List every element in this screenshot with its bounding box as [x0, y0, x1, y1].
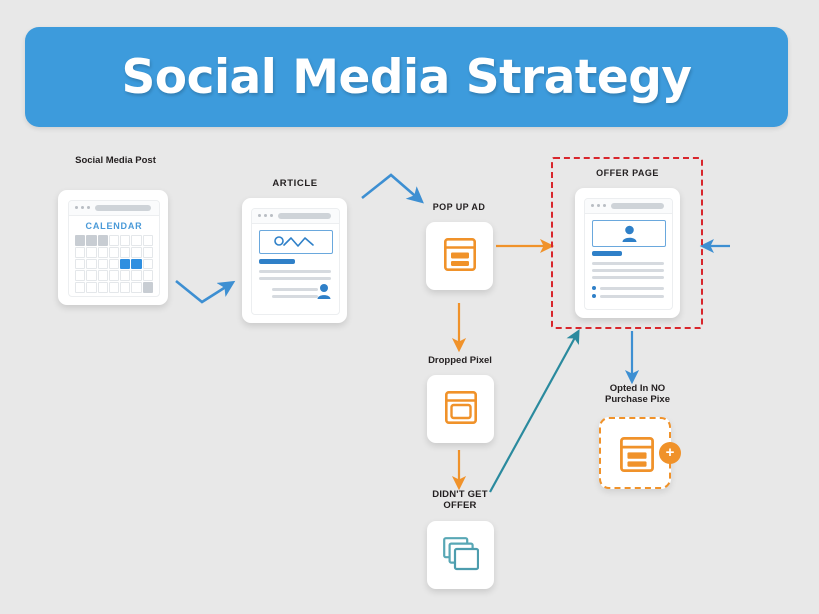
- author-avatar-icon: [316, 283, 332, 300]
- article-card[interactable]: [242, 198, 347, 323]
- calendar-cell: [143, 259, 153, 270]
- browser-dot: [81, 206, 84, 209]
- browser-address-bar: [278, 213, 331, 219]
- calendar-cell: [98, 247, 108, 258]
- edge-post-to-article: [176, 281, 232, 302]
- node-pop-up-ad[interactable]: POP UP AD: [424, 202, 494, 302]
- popup-window-icon: [620, 437, 654, 472]
- calendar-cell: [143, 282, 153, 293]
- calendar-cell: [86, 270, 96, 281]
- calendar-cell: [131, 282, 141, 293]
- popup-window-icon: [444, 238, 476, 271]
- calendar-cell: [86, 282, 96, 293]
- node-label-social-media-post: Social Media Post: [75, 155, 156, 166]
- calendar-cell-selected: [131, 259, 141, 270]
- node-social-media-post[interactable]: Social Media Post CALENDAR: [58, 155, 173, 305]
- offer-page-icon: [584, 198, 673, 310]
- browser-address-bar: [95, 205, 151, 211]
- offer-hero-frame: [592, 220, 666, 247]
- calendar-cell: [109, 282, 119, 293]
- diagram-canvas: Social Media Strategy: [0, 0, 819, 614]
- article-text-line: [272, 295, 318, 298]
- article-text-line: [259, 277, 331, 280]
- browser-dot: [603, 204, 606, 207]
- calendar-cell: [131, 270, 141, 281]
- offer-text-line: [592, 262, 664, 265]
- article-chart-frame: [259, 230, 333, 254]
- article-headline-bar: [259, 259, 295, 264]
- calendar-cell: [98, 259, 108, 270]
- calendar-cell: [86, 235, 96, 246]
- calendar-cell: [143, 270, 153, 281]
- article-text-line: [259, 270, 331, 273]
- offer-list-line: [600, 295, 664, 298]
- offer-text-line: [592, 269, 664, 272]
- calendar-cell: [75, 235, 85, 246]
- pop-up-ad-card[interactable]: [426, 222, 493, 290]
- calendar-cell: [75, 282, 85, 293]
- browser-dot: [258, 214, 261, 217]
- calendar-cell: [75, 270, 85, 281]
- browser-dot: [591, 204, 594, 207]
- title-banner: Social Media Strategy: [25, 27, 788, 127]
- calendar-cell: [86, 259, 96, 270]
- calendar-cell: [98, 235, 108, 246]
- add-pixel-badge[interactable]: +: [659, 442, 681, 464]
- line-chart-icon: [274, 235, 320, 250]
- calendar-cell: [86, 247, 96, 258]
- calendar-cell: [109, 247, 119, 258]
- node-label-offer-page: OFFER PAGE: [596, 168, 659, 179]
- calendar-cell: [120, 270, 130, 281]
- calendar-cell-selected: [120, 259, 130, 270]
- node-label-didnt-get-offer: DIDN'T GET OFFER: [432, 489, 487, 512]
- calendar-heading: CALENDAR: [69, 221, 159, 231]
- edge-article-to-popup: [362, 175, 421, 201]
- node-article[interactable]: ARTICLE: [240, 178, 350, 323]
- stacked-windows-icon: [443, 537, 479, 571]
- edge-didnt-get-offer-to-offer-page: [490, 332, 578, 492]
- calendar-cell: [75, 259, 85, 270]
- pixel-window-icon: [445, 391, 477, 424]
- browser-dot: [597, 204, 600, 207]
- node-offer-page[interactable]: OFFER PAGE: [570, 168, 685, 320]
- calendar-cell: [120, 282, 130, 293]
- browser-dot: [87, 206, 90, 209]
- calendar-cell: [120, 235, 130, 246]
- calendar-cell: [131, 247, 141, 258]
- node-dropped-pixel[interactable]: Dropped Pixel: [425, 355, 495, 455]
- article-page-icon: [251, 208, 340, 315]
- person-avatar-icon: [621, 225, 638, 243]
- calendar-cell: [109, 235, 119, 246]
- offer-list-line: [600, 287, 664, 290]
- social-media-post-card[interactable]: CALENDAR: [58, 190, 168, 305]
- article-text-line: [272, 288, 318, 291]
- calendar-cell: [98, 270, 108, 281]
- browser-dot: [270, 214, 273, 217]
- node-label-article: ARTICLE: [272, 178, 317, 189]
- browser-dot: [264, 214, 267, 217]
- offer-list-bullet: [592, 294, 596, 298]
- calendar-cell: [131, 235, 141, 246]
- offer-headline-bar: [592, 251, 622, 256]
- node-label-opted-in-no-purchase: Opted In NO Purchase Pixe: [605, 383, 670, 406]
- node-label-pop-up-ad: POP UP AD: [433, 202, 485, 213]
- didnt-get-offer-card[interactable]: [427, 521, 494, 589]
- browser-address-bar: [611, 203, 664, 209]
- node-label-dropped-pixel: Dropped Pixel: [428, 355, 492, 366]
- calendar-cell: [75, 247, 85, 258]
- node-opted-in-no-purchase[interactable]: Opted In NO Purchase Pixe +: [590, 383, 685, 493]
- offer-text-line: [592, 276, 664, 279]
- dropped-pixel-card[interactable]: [427, 375, 494, 443]
- calendar-cell: [120, 247, 130, 258]
- calendar-cell: [143, 247, 153, 258]
- calendar-grid: [75, 235, 153, 293]
- page-title: Social Media Strategy: [121, 50, 691, 105]
- offer-list-bullet: [592, 286, 596, 290]
- calendar-cell: [109, 270, 119, 281]
- calendar-cell: [109, 259, 119, 270]
- offer-page-card[interactable]: [575, 188, 680, 318]
- calendar-cell: [143, 235, 153, 246]
- browser-dot: [75, 206, 78, 209]
- calendar-cell: [98, 282, 108, 293]
- calendar-page-icon: CALENDAR: [68, 200, 160, 297]
- node-didnt-get-offer[interactable]: DIDN'T GET OFFER: [425, 489, 495, 595]
